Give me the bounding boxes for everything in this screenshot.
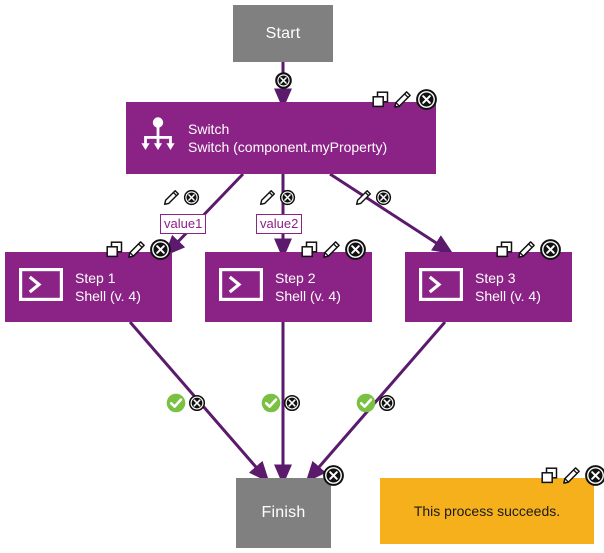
success-check-icon[interactable] (261, 393, 281, 413)
node-switch-text: Switch Switch (component.myProperty) (188, 120, 387, 156)
node-step3-text: Step 3 Shell (v. 4) (475, 269, 541, 305)
pencil-icon[interactable] (322, 240, 341, 259)
copy-icon[interactable] (540, 466, 559, 485)
node-controls-step1 (105, 238, 172, 261)
node-step3-subtitle: Shell (v. 4) (475, 287, 541, 305)
node-switch-title: Switch (188, 120, 387, 138)
node-switch[interactable]: Switch Switch (component.myProperty) (126, 102, 436, 174)
node-step2-subtitle: Shell (v. 4) (275, 287, 341, 305)
node-step1-title: Step 1 (75, 269, 141, 287)
delete-x-icon[interactable] (415, 88, 438, 111)
edge-label-value1[interactable]: value1 (160, 214, 206, 234)
edge-label-value2[interactable]: value2 (256, 214, 302, 234)
delete-x-icon[interactable] (275, 72, 292, 89)
delete-x-icon[interactable] (378, 394, 396, 412)
copy-icon[interactable] (371, 90, 390, 109)
copy-icon[interactable] (105, 240, 124, 259)
edge-controls-start-to-switch (275, 72, 292, 89)
edge-controls-step1-to-finish (166, 393, 206, 413)
shell-terminal-icon (419, 268, 463, 306)
shell-terminal-icon (219, 268, 263, 306)
delete-x-icon[interactable] (283, 394, 301, 412)
shell-terminal-icon (19, 268, 63, 306)
edge-controls-step3-to-finish (356, 393, 396, 413)
node-controls-step3 (495, 238, 562, 261)
pencil-icon[interactable] (355, 189, 372, 206)
edge-controls-switch-to-step2 (259, 189, 296, 206)
node-start[interactable]: Start (233, 5, 333, 62)
pencil-icon[interactable] (562, 466, 581, 485)
edge-controls-switch-to-step3 (355, 189, 392, 206)
delete-x-icon[interactable] (183, 189, 200, 206)
success-check-icon[interactable] (356, 393, 376, 413)
node-controls-step2 (300, 238, 367, 261)
pencil-icon[interactable] (393, 90, 412, 109)
node-step1-subtitle: Shell (v. 4) (75, 287, 141, 305)
node-start-label: Start (266, 25, 301, 43)
switch-fork-icon (140, 116, 176, 161)
copy-icon[interactable] (300, 240, 319, 259)
pencil-icon[interactable] (259, 189, 276, 206)
pencil-icon[interactable] (163, 189, 180, 206)
node-controls-note (540, 464, 604, 487)
edge-switch-to-step1[interactable] (172, 174, 243, 248)
pencil-icon[interactable] (517, 240, 536, 259)
pencil-icon[interactable] (127, 240, 146, 259)
node-controls-switch (371, 88, 438, 111)
delete-x-icon[interactable] (279, 189, 296, 206)
delete-x-icon[interactable] (149, 238, 172, 261)
delete-x-icon[interactable] (322, 464, 345, 487)
node-step3[interactable]: Step 3 Shell (v. 4) (405, 252, 572, 322)
success-check-icon[interactable] (166, 393, 186, 413)
edge-switch-to-step3[interactable] (330, 174, 444, 248)
node-controls-finish (322, 464, 345, 487)
node-step1-text: Step 1 Shell (v. 4) (75, 269, 141, 305)
node-step2[interactable]: Step 2 Shell (v. 4) (205, 252, 372, 322)
delete-x-icon[interactable] (188, 394, 206, 412)
copy-icon[interactable] (495, 240, 514, 259)
node-note[interactable]: This process succeeds. (380, 478, 594, 544)
node-step2-title: Step 2 (275, 269, 341, 287)
node-step2-text: Step 2 Shell (v. 4) (275, 269, 341, 305)
delete-x-icon[interactable] (584, 464, 604, 487)
edge-controls-switch-to-step1 (163, 189, 200, 206)
edge-controls-step2-to-finish (261, 393, 301, 413)
delete-x-icon[interactable] (539, 238, 562, 261)
delete-x-icon[interactable] (375, 189, 392, 206)
workflow-canvas: Start (0, 0, 604, 553)
node-note-label: This process succeeds. (414, 503, 560, 519)
node-finish[interactable]: Finish (236, 478, 331, 548)
node-switch-subtitle: Switch (component.myProperty) (188, 138, 387, 156)
delete-x-icon[interactable] (344, 238, 367, 261)
node-step1[interactable]: Step 1 Shell (v. 4) (5, 252, 172, 322)
node-step3-title: Step 3 (475, 269, 541, 287)
node-finish-label: Finish (262, 504, 306, 522)
